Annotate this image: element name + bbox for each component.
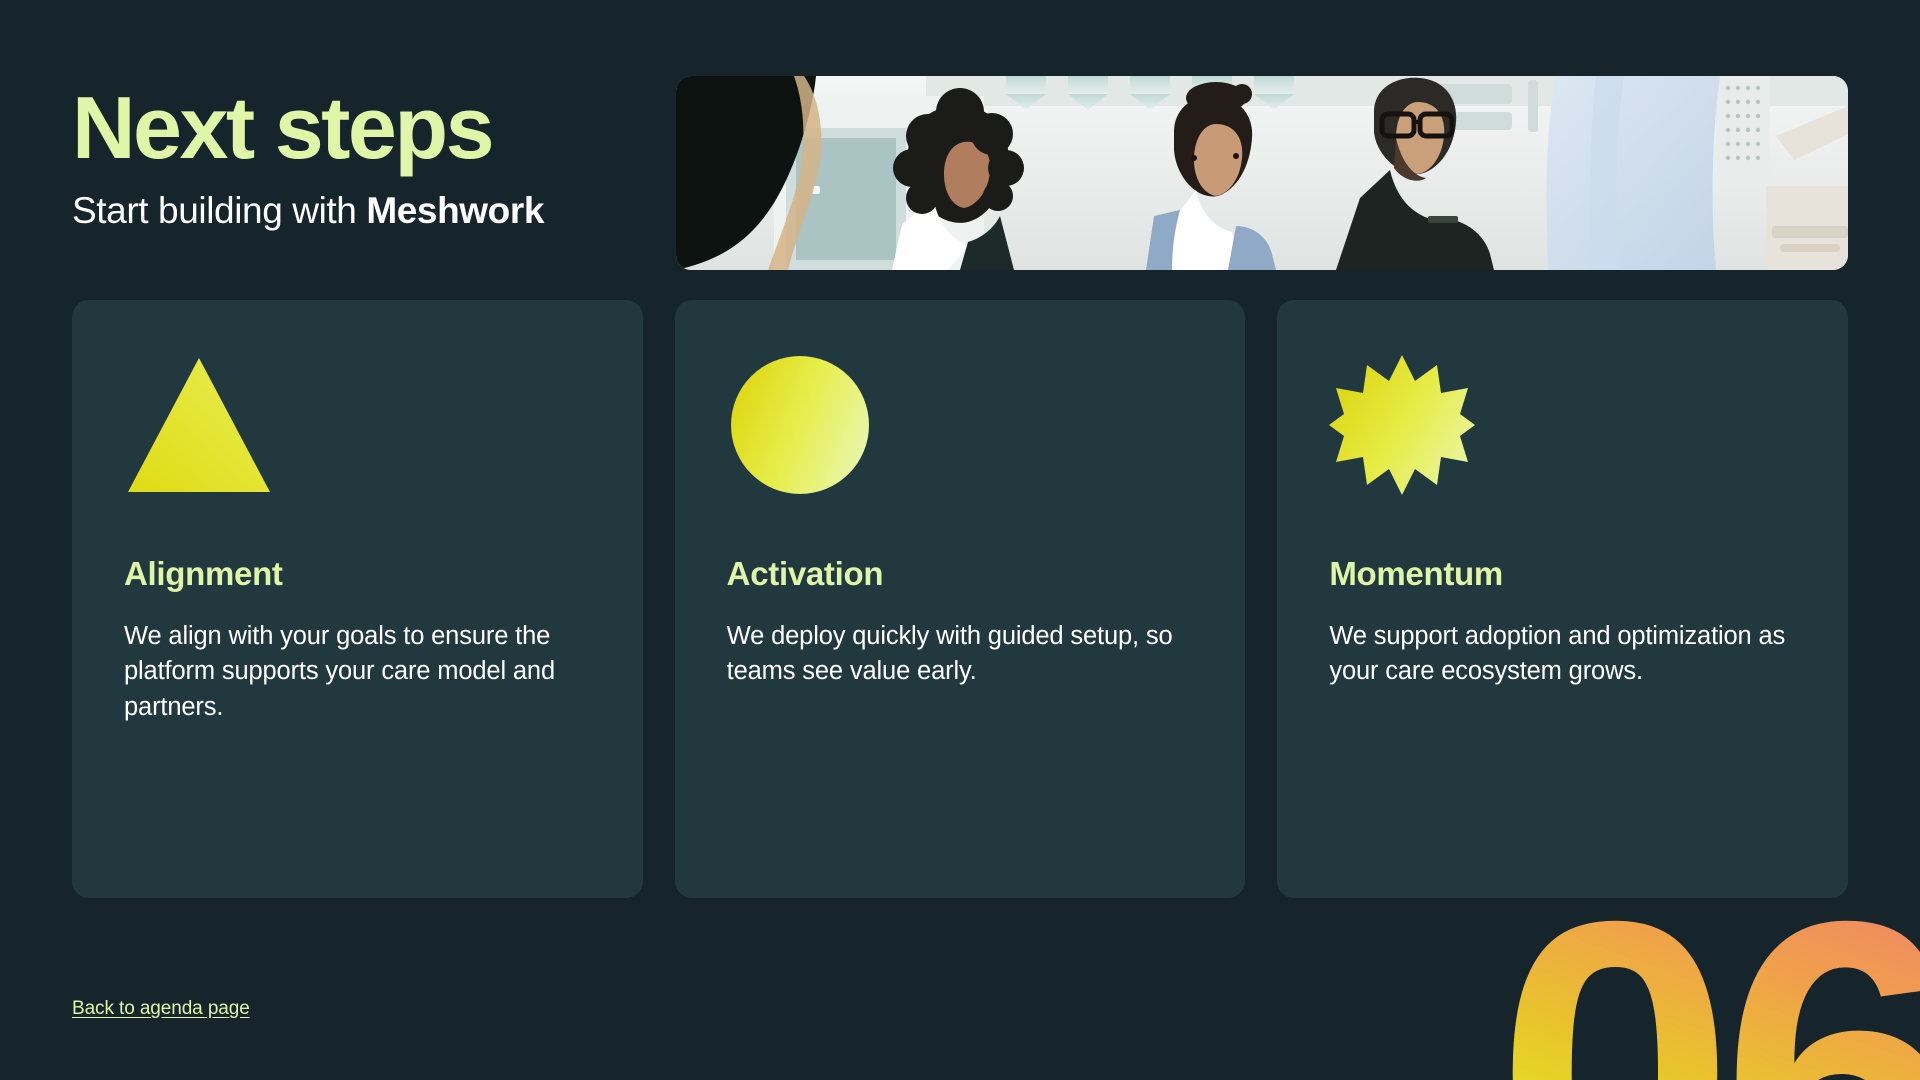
page-subtitle: Start building with Meshwork (72, 190, 672, 231)
title-block: Next steps Start building with Meshwork (72, 84, 672, 231)
card-alignment[interactable]: Alignment We align with your goals to en… (72, 300, 643, 898)
slide-footer: Back to agenda page (72, 998, 250, 1020)
back-to-agenda-link[interactable]: Back to agenda page (72, 998, 250, 1020)
starburst-shape-icon (1329, 354, 1796, 500)
slide-header: Next steps Start building with Meshwork (0, 0, 1920, 286)
card-activation[interactable]: Activation We deploy quickly with guided… (675, 300, 1246, 898)
card-body: We deploy quickly with guided setup, so … (727, 619, 1194, 690)
card-title: Momentum (1329, 555, 1796, 593)
slide-next-steps: 06 Next steps Start building with Meshwo… (0, 0, 1920, 1080)
hero-photo (676, 76, 1848, 270)
cards-row: Alignment We align with your goals to en… (72, 300, 1848, 898)
card-body: We support adoption and optimization as … (1329, 619, 1796, 690)
triangle-shape-icon (124, 354, 591, 500)
subtitle-prefix: Start building with (72, 190, 366, 231)
card-title: Alignment (124, 555, 591, 593)
page-title: Next steps (72, 84, 672, 172)
card-momentum[interactable]: Momentum We support adoption and optimiz… (1277, 300, 1848, 898)
card-title: Activation (727, 555, 1194, 593)
card-body: We align with your goals to ensure the p… (124, 619, 591, 725)
subtitle-brand: Meshwork (366, 190, 544, 231)
slide-number-decoration: 06 (1496, 897, 1920, 1080)
circle-shape-icon (727, 354, 1194, 500)
